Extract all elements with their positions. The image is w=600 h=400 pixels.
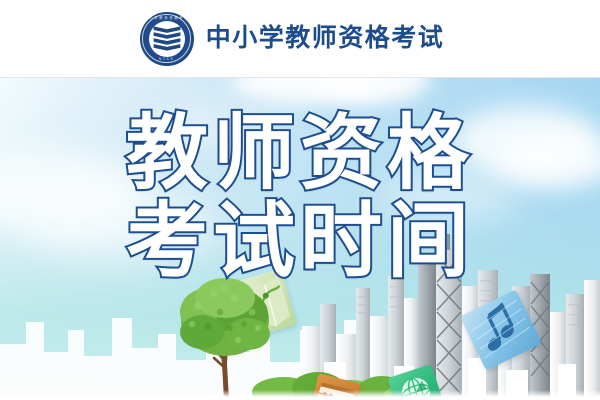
header-brand[interactable]: 中小学教师资格考试 NTCE 中小学教师资格考试 [140, 12, 445, 66]
page-title: 中小学教师资格考试 [206, 26, 445, 51]
site-header: 中小学教师资格考试 NTCE 中小学教师资格考试 [0, 0, 600, 78]
logo-seal-text-top: 中小学教师资格考试 [140, 17, 194, 20]
cloud-haze-right [380, 174, 520, 220]
tree [168, 268, 284, 400]
hero-scene [0, 78, 600, 400]
cloud-left-lower [20, 194, 220, 260]
open-book-icon [152, 26, 182, 52]
cloud-haze-center [150, 108, 270, 146]
exam-emblem-logo[interactable]: 中小学教师资格考试 NTCE [140, 12, 194, 66]
logo-seal-text-bottom: NTCE [140, 58, 194, 61]
exam-banner: 中小学教师资格考试 NTCE 中小学教师资格考试 [0, 0, 600, 400]
ground-fade [0, 390, 600, 400]
